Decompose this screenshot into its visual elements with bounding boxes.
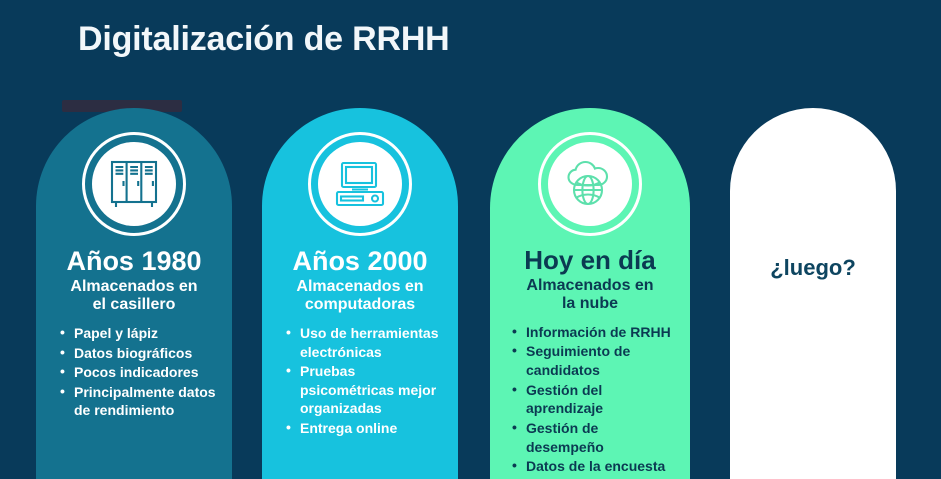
list-item: Uso de herramientas electrónicas xyxy=(286,324,444,361)
list-item: Datos de la encuesta xyxy=(512,457,676,476)
cloud-globe-icon xyxy=(562,158,618,210)
list-item: Seguimiento de candidatos xyxy=(512,342,676,379)
card-subtitle: Almacenados en el casillero xyxy=(70,278,197,314)
card-bullet-list: Uso de herramientas electrónicas Pruebas… xyxy=(272,324,448,439)
card-subtitle-line1: Almacenados en xyxy=(296,278,423,296)
list-item: Información de RRHH xyxy=(512,323,676,342)
list-item: Papel y lápiz xyxy=(60,324,218,343)
locker-icon-badge xyxy=(82,132,186,236)
cloud-globe-icon-badge xyxy=(538,132,642,236)
card-bullet-list: Papel y lápiz Datos biográficos Pocos in… xyxy=(46,324,222,421)
list-item: Pocos indicadores xyxy=(60,363,218,382)
icon-disc xyxy=(92,142,176,226)
card-bullet-list: Información de RRHH Seguimiento de candi… xyxy=(500,323,680,479)
card-heading: ¿luego? xyxy=(770,255,856,281)
locker-icon xyxy=(106,157,162,211)
slide-canvas: Digitalización de RRHH xyxy=(0,0,941,479)
card-anos-1980[interactable]: Años 1980 Almacenados en el casillero Pa… xyxy=(36,108,232,479)
list-item: Gestión de desempeño xyxy=(512,419,676,456)
icon-disc xyxy=(318,142,402,226)
desktop-computer-icon xyxy=(332,159,388,209)
card-heading: Años 2000 xyxy=(292,247,427,275)
list-item: Pruebas psicométricas mejor organizadas xyxy=(286,362,444,418)
card-heading: Años 1980 xyxy=(66,247,201,275)
card-anos-2000[interactable]: Años 2000 Almacenados en computadoras Us… xyxy=(262,108,458,479)
card-heading: Hoy en día xyxy=(524,247,655,274)
card-subtitle-line2: la nube xyxy=(526,295,653,313)
icon-disc xyxy=(548,142,632,226)
list-item: Principalmente datos de rendimiento xyxy=(60,383,218,420)
card-subtitle-line2: computadoras xyxy=(296,296,423,314)
card-subtitle: Almacenados en computadoras xyxy=(296,278,423,314)
card-subtitle-line2: el casillero xyxy=(70,296,197,314)
card-hoy-en-dia[interactable]: Hoy en día Almacenados en la nube Inform… xyxy=(490,108,690,479)
list-item: Entrega online xyxy=(286,419,444,438)
card-subtitle-line1: Almacenados en xyxy=(526,277,653,295)
page-title: Digitalización de RRHH xyxy=(78,20,450,59)
list-item: Datos biográficos xyxy=(60,344,218,363)
list-item: Gestión del aprendizaje xyxy=(512,381,676,418)
desktop-computer-icon-badge xyxy=(308,132,412,236)
card-subtitle-line1: Almacenados en xyxy=(70,278,197,296)
card-subtitle: Almacenados en la nube xyxy=(526,277,653,313)
card-luego[interactable]: ¿luego? xyxy=(730,108,896,479)
